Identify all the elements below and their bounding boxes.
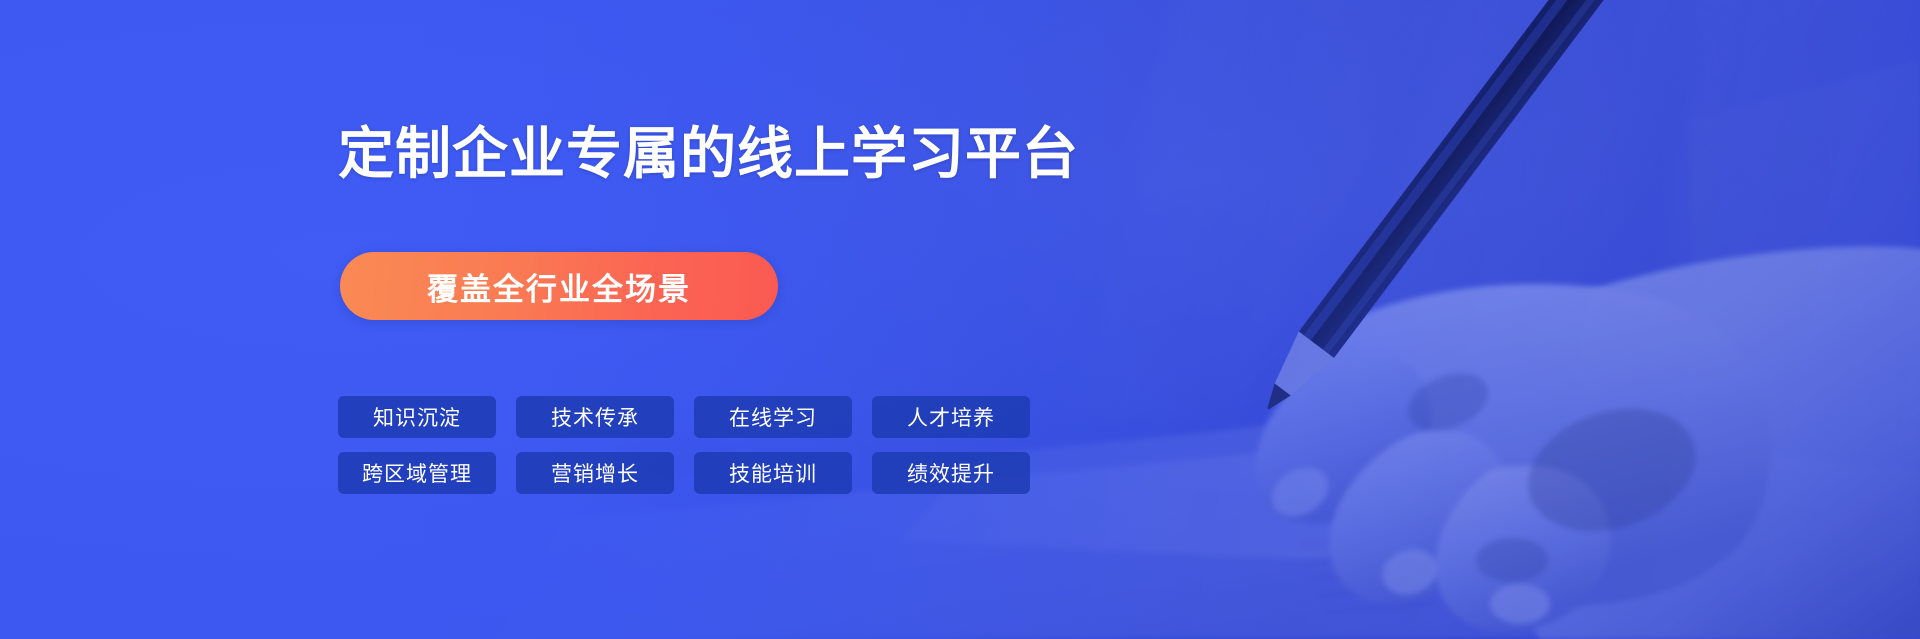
tag-online-learning[interactable]: 在线学习 (694, 396, 852, 438)
banner-content: 定制企业专属的线上学习平台 覆盖全行业全场景 知识沉淀 技术传承 在线学习 人才… (338, 0, 1238, 639)
hero-banner: 定制企业专属的线上学习平台 覆盖全行业全场景 知识沉淀 技术传承 在线学习 人才… (0, 0, 1920, 639)
tag-talent-development[interactable]: 人才培养 (872, 396, 1030, 438)
tag-knowledge-precipitation[interactable]: 知识沉淀 (338, 396, 496, 438)
tag-performance-improvement[interactable]: 绩效提升 (872, 452, 1030, 494)
tag-skills-training[interactable]: 技能培训 (694, 452, 852, 494)
page-title: 定制企业专属的线上学习平台 (338, 122, 1079, 186)
coverage-cta-button[interactable]: 覆盖全行业全场景 (340, 252, 778, 320)
tag-marketing-growth[interactable]: 营销增长 (516, 452, 674, 494)
tag-technology-inheritance[interactable]: 技术传承 (516, 396, 674, 438)
tag-cross-region-management[interactable]: 跨区域管理 (338, 452, 496, 494)
feature-tag-grid: 知识沉淀 技术传承 在线学习 人才培养 跨区域管理 营销增长 技能培训 绩效提升 (338, 396, 1030, 494)
